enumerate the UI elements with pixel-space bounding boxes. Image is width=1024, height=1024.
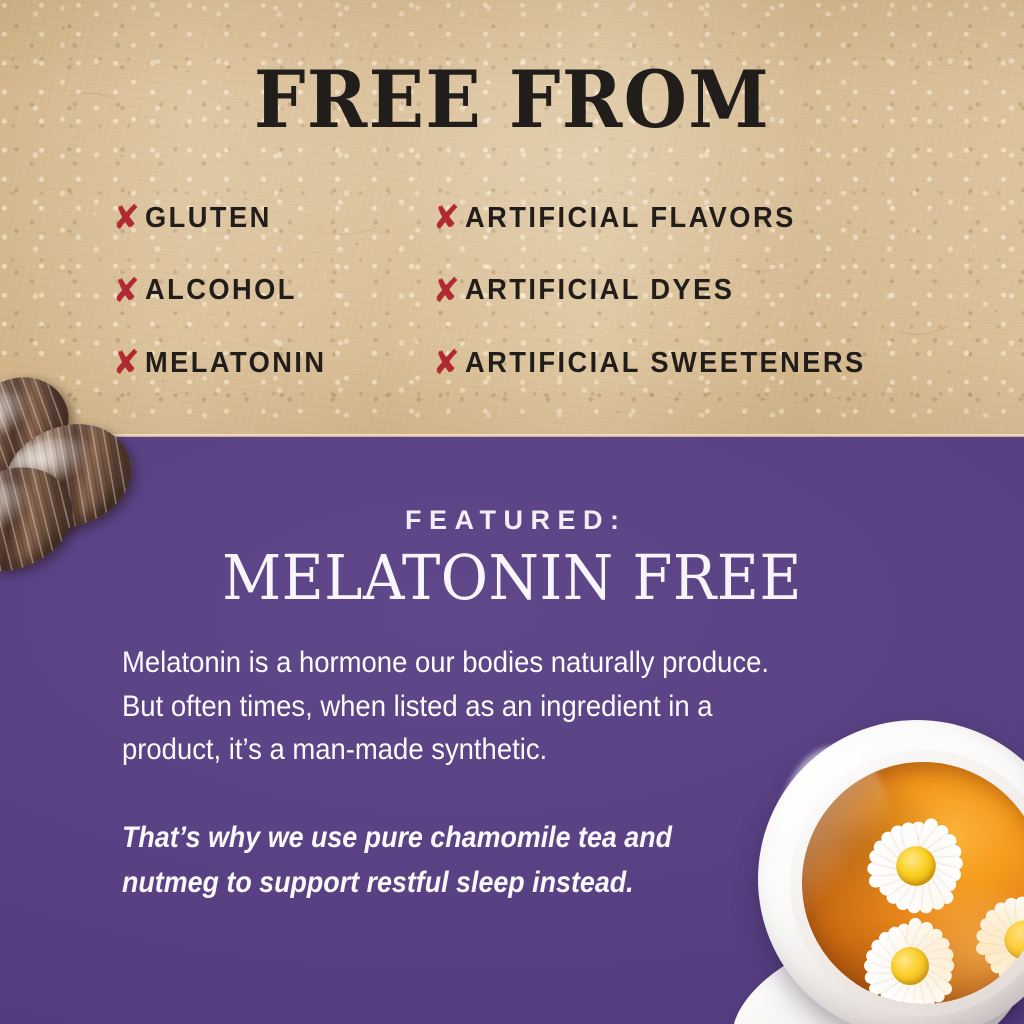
body-line: product, it’s a man-made synthetic. [122,728,845,772]
featured-headline: MELATONIN FREE [36,547,988,609]
featured-body-copy: Melatonin is a hormone our bodies natura… [122,641,845,772]
featured-emphasis-copy: That’s why we use pure chamomile tea and… [122,815,814,905]
x-mark-icon: ✘ [113,274,140,308]
free-from-label: ARTIFICIAL FLAVORS [465,202,796,235]
x-mark-icon: ✘ [113,201,140,235]
x-mark-icon: ✘ [433,274,460,308]
free-from-label: MELATONIN [145,347,327,380]
free-from-item-alcohol: ✘ ALCOHOL [112,255,338,328]
featured-eyebrow: FEATURED: [0,505,1024,536]
free-from-item-gluten: ✘ GLUTEN [112,182,338,255]
body-line: Melatonin is a hormone our bodies natura… [122,641,845,685]
x-mark-icon: ✘ [113,346,140,380]
free-from-item-artificial-sweeteners: ✘ ARTIFICIAL SWEETENERS [432,327,891,400]
page-title: FREE FROM [41,60,983,139]
body-line: But often times, when listed as an ingre… [122,685,845,729]
featured-panel: FEATURED: MELATONIN FREE Melatonin is a … [0,437,1024,1024]
emphasis-line: That’s why we use pure chamomile tea and [122,815,814,860]
product-infographic: FREE FROM ✘ GLUTEN ✘ ALCOHOL ✘ MELATONIN [0,0,1024,1024]
free-from-label: ALCOHOL [145,274,297,307]
x-mark-icon: ✘ [433,201,460,235]
free-from-label: ARTIFICIAL SWEETENERS [465,347,866,380]
kraft-paper-panel: FREE FROM ✘ GLUTEN ✘ ALCOHOL ✘ MELATONIN [0,0,1024,437]
free-from-column-left: ✘ GLUTEN ✘ ALCOHOL ✘ MELATONIN [112,182,338,400]
free-from-item-artificial-flavors: ✘ ARTIFICIAL FLAVORS [432,182,891,255]
free-from-list: ✘ GLUTEN ✘ ALCOHOL ✘ MELATONIN ✘ ARTIFIC… [0,182,1024,392]
free-from-column-right: ✘ ARTIFICIAL FLAVORS ✘ ARTIFICIAL DYES ✘… [432,182,891,400]
x-mark-icon: ✘ [433,346,460,380]
free-from-item-melatonin: ✘ MELATONIN [112,327,338,400]
emphasis-line: nutmeg to support restful sleep instead. [122,860,814,905]
free-from-item-artificial-dyes: ✘ ARTIFICIAL DYES [432,255,891,328]
free-from-label: GLUTEN [145,202,272,235]
free-from-label: ARTIFICIAL DYES [465,274,734,307]
